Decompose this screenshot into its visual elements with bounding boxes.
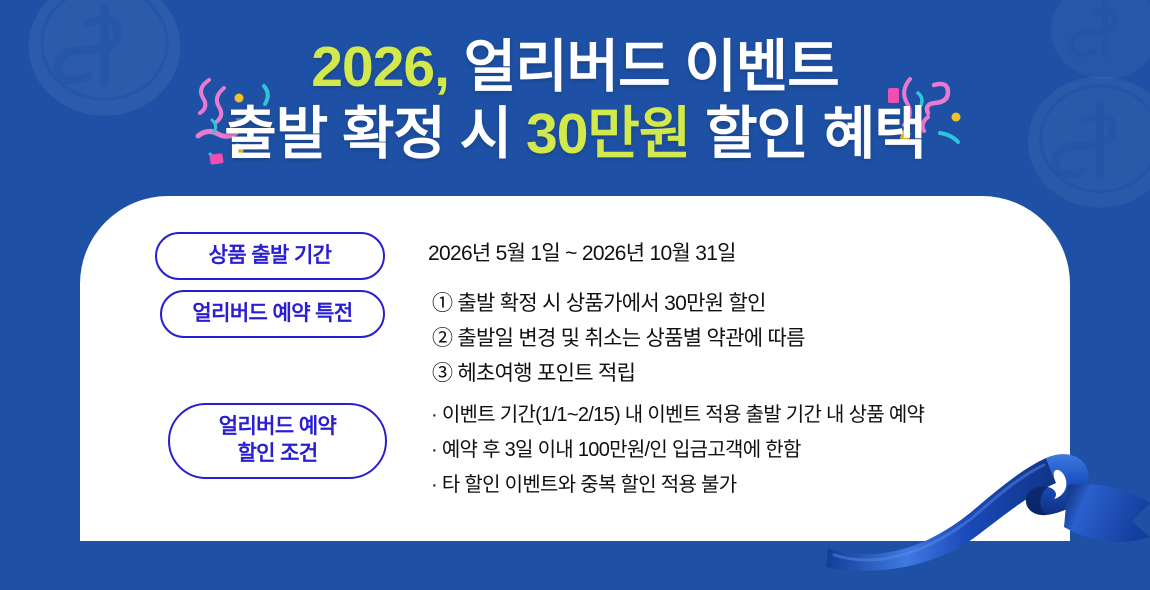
list-item: ③ 헤초여행 포인트 적립 <box>432 363 805 384</box>
banner-title: 2026, 얼리버드 이벤트 출발 확정 시 30만원 할인 혜택 <box>0 38 1150 163</box>
row-departure-period: 상품 출발 기간 2026년 5월 1일 ~ 2026년 10월 31일 <box>155 232 736 280</box>
pill-discount-condition: 얼리버드 예약 할인 조건 <box>168 403 387 479</box>
title-line-2: 출발 확정 시 30만원 할인 혜택 <box>0 105 1150 163</box>
title-discount-amount: 30만원 <box>526 102 690 166</box>
pill-earlybird-benefit: 얼리버드 예약 특전 <box>160 290 385 338</box>
pill-earlybird-benefit-label: 얼리버드 예약 특전 <box>192 301 352 328</box>
content-card: 상품 출발 기간 2026년 5월 1일 ~ 2026년 10월 31일 얼리버… <box>80 196 1070 541</box>
departure-period-text: 2026년 5월 1일 ~ 2026년 10월 31일 <box>428 243 736 264</box>
title-line2-part2: 할인 혜택 <box>690 102 925 166</box>
title-line1-rest: 얼리버드 이벤트 <box>449 35 839 99</box>
list-item: · 이벤트 기간(1/1~2/15) 내 이벤트 적용 출발 기간 내 상품 예… <box>431 405 924 425</box>
title-year: 2026, <box>311 35 449 99</box>
pill-departure-period: 상품 출발 기간 <box>155 232 385 280</box>
pill-departure-period-label: 상품 출발 기간 <box>209 243 332 270</box>
list-item: ② 출발일 변경 및 취소는 상품별 약관에 따름 <box>432 328 805 349</box>
list-item: · 예약 후 3일 이내 100만원/인 입금고객에 한함 <box>431 440 924 460</box>
list-item: · 타 할인 이벤트와 중복 할인 적용 불가 <box>431 475 924 495</box>
pill-discount-condition-label-line1: 얼리버드 예약 <box>219 414 337 441</box>
departure-period-value: 2026년 5월 1일 ~ 2026년 10월 31일 <box>428 232 736 264</box>
row-earlybird-benefit: 얼리버드 예약 특전 ① 출발 확정 시 상품가에서 30만원 할인 ② 출발일… <box>160 290 805 384</box>
title-line-1: 2026, 얼리버드 이벤트 <box>0 38 1150 96</box>
earlybird-benefit-list: ① 출발 확정 시 상품가에서 30만원 할인 ② 출발일 변경 및 취소는 상… <box>432 290 805 384</box>
row-discount-condition: 얼리버드 예약 할인 조건 · 이벤트 기간(1/1~2/15) 내 이벤트 적… <box>168 403 924 495</box>
list-item: ① 출발 확정 시 상품가에서 30만원 할인 <box>432 293 805 314</box>
title-line2-part1: 출발 확정 시 <box>224 102 526 166</box>
pill-discount-condition-label-line2: 할인 조건 <box>237 441 317 468</box>
discount-condition-list: · 이벤트 기간(1/1~2/15) 내 이벤트 적용 출발 기간 내 상품 예… <box>431 403 924 495</box>
promo-banner: 2026, 얼리버드 이벤트 출발 확정 시 30만원 할인 혜택 <box>0 0 1150 590</box>
